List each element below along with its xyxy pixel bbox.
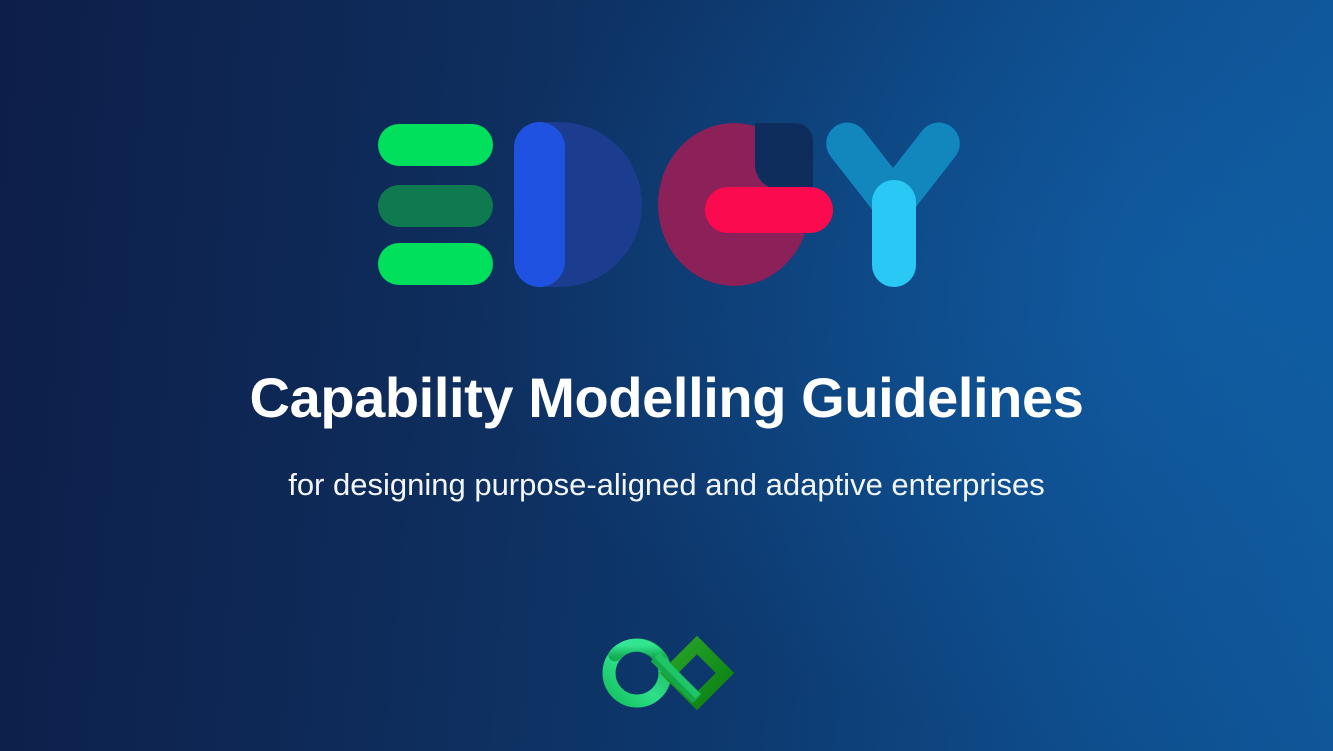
page-subtitle: for designing purpose-aligned and adapti… bbox=[0, 466, 1333, 503]
headline-block: Capability Modelling Guidelines for desi… bbox=[0, 367, 1333, 503]
letter-e-bar-bottom bbox=[378, 243, 493, 285]
edgy-brand-logo bbox=[378, 122, 958, 287]
edgy-letter-d-icon bbox=[514, 122, 642, 287]
infinity-loop-diamond-icon bbox=[597, 627, 737, 719]
edgy-letter-g-icon bbox=[658, 122, 813, 287]
page-title: Capability Modelling Guidelines bbox=[0, 367, 1333, 430]
letter-e-bar-top bbox=[378, 124, 493, 166]
title-slide: Capability Modelling Guidelines for desi… bbox=[0, 0, 1333, 751]
letter-y-stem bbox=[872, 180, 916, 287]
letter-e-bar-middle bbox=[378, 185, 493, 227]
letter-g-bar bbox=[705, 187, 833, 233]
edgy-letter-e-icon bbox=[378, 122, 493, 287]
loop-ring bbox=[609, 645, 665, 701]
edgy-letter-y-icon bbox=[828, 122, 958, 287]
letter-d-stem bbox=[514, 122, 565, 287]
letter-g-notch bbox=[755, 123, 813, 189]
